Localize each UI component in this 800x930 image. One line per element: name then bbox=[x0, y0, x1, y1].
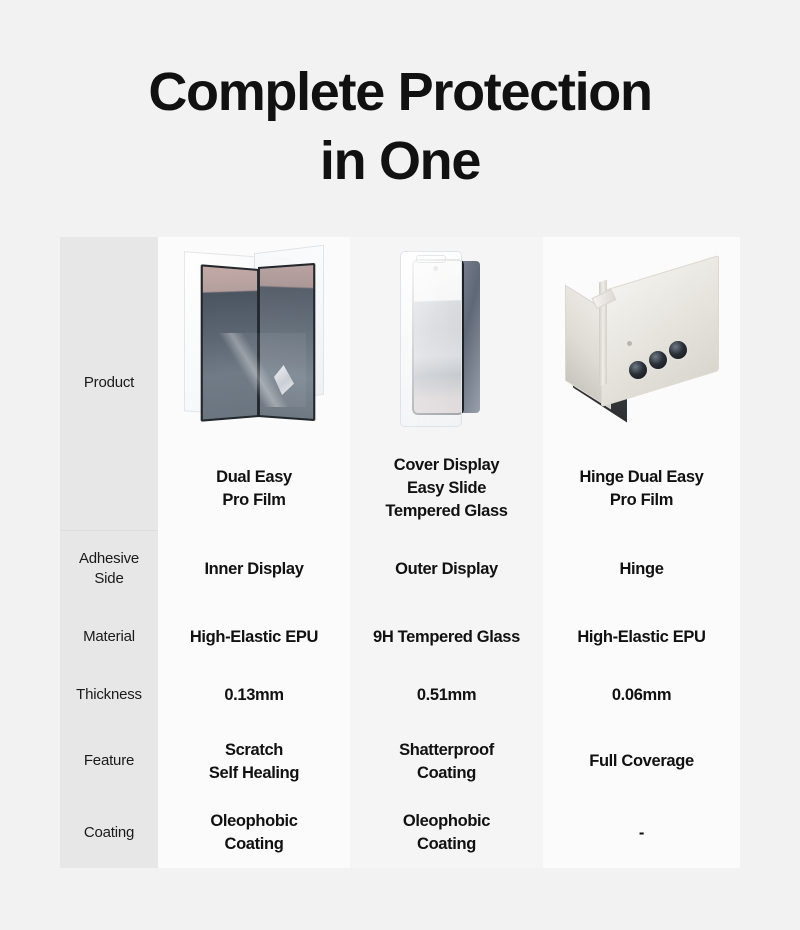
table-row-adhesive-side: Adhesive Side Inner Display Outer Displa… bbox=[60, 530, 740, 608]
table-row-coating: Coating Oleophobic Coating Oleophobic Co… bbox=[60, 798, 740, 868]
product-name-1: Dual Easy Pro Film bbox=[158, 447, 350, 530]
coating-value-2: Oleophobic Coating bbox=[350, 798, 543, 868]
adhesive-side-value-3: Hinge bbox=[543, 530, 740, 608]
product-name-3-line-2: Pro Film bbox=[543, 489, 740, 512]
coating-value-2-line-1: Oleophobic bbox=[350, 810, 543, 833]
coating-value-1-line-2: Coating bbox=[158, 833, 350, 856]
row-label-material: Material bbox=[60, 608, 158, 666]
row-label-adhesive-side-line-2: Side bbox=[60, 569, 158, 589]
coating-value-1: Oleophobic Coating bbox=[158, 798, 350, 868]
thickness-value-1: 0.13mm bbox=[158, 666, 350, 725]
row-label-coating: Coating bbox=[60, 798, 158, 868]
page-title-line-1: Complete Protection bbox=[0, 58, 800, 127]
comparison-infographic: Complete Protection in One Product bbox=[0, 0, 800, 930]
table-row-thickness: Thickness 0.13mm 0.51mm 0.06mm bbox=[60, 666, 740, 725]
feature-value-2: Shatterproof Coating bbox=[350, 725, 543, 798]
feature-value-3: Full Coverage bbox=[543, 725, 740, 798]
product-name-2-line-1: Cover Display bbox=[350, 454, 543, 477]
thickness-value-3: 0.06mm bbox=[543, 666, 740, 725]
product-name-1-line-2: Pro Film bbox=[158, 489, 350, 512]
product-name-2: Cover Display Easy Slide Tempered Glass bbox=[350, 447, 543, 530]
coating-value-3: - bbox=[543, 798, 740, 868]
material-value-1: High-Elastic EPU bbox=[158, 608, 350, 666]
coating-value-2-line-2: Coating bbox=[350, 833, 543, 856]
feature-value-1: Scratch Self Healing bbox=[158, 725, 350, 798]
table-row-product-name: Dual Easy Pro Film Cover Display Easy Sl… bbox=[60, 447, 740, 530]
product-name-3: Hinge Dual Easy Pro Film bbox=[543, 447, 740, 530]
row-label-adhesive-side: Adhesive Side bbox=[60, 530, 158, 608]
open-foldable-phone-with-inner-screen-film-icon bbox=[158, 237, 350, 447]
row-label-product: Product bbox=[60, 237, 158, 530]
product-name-1-line-1: Dual Easy bbox=[158, 466, 350, 489]
row-label-adhesive-side-line-1: Adhesive bbox=[60, 549, 158, 569]
product-name-2-line-2: Easy Slide bbox=[350, 477, 543, 500]
feature-value-2-line-1: Shatterproof bbox=[350, 739, 543, 762]
feature-value-2-line-2: Coating bbox=[350, 762, 543, 785]
material-value-3: High-Elastic EPU bbox=[543, 608, 740, 666]
table-row-product-image: Product bbox=[60, 237, 740, 447]
product-name-3-line-1: Hinge Dual Easy bbox=[543, 466, 740, 489]
material-value-2: 9H Tempered Glass bbox=[350, 608, 543, 666]
coating-value-1-line-1: Oleophobic bbox=[158, 810, 350, 833]
page-title-line-2: in One bbox=[0, 127, 800, 196]
feature-value-1-line-2: Self Healing bbox=[158, 762, 350, 785]
tent-folded-phone-showing-hinge-and-cameras-icon bbox=[543, 237, 740, 447]
product-image-cell-3 bbox=[543, 237, 740, 447]
product-comparison-table: Product bbox=[60, 237, 740, 868]
thickness-value-2: 0.51mm bbox=[350, 666, 543, 725]
row-label-feature: Feature bbox=[60, 725, 158, 798]
row-label-thickness: Thickness bbox=[60, 666, 158, 725]
adhesive-side-value-1: Inner Display bbox=[158, 530, 350, 608]
product-name-2-line-3: Tempered Glass bbox=[350, 500, 543, 523]
table-row-material: Material High-Elastic EPU 9H Tempered Gl… bbox=[60, 608, 740, 666]
product-image-cell-2 bbox=[350, 237, 543, 447]
page-title: Complete Protection in One bbox=[0, 58, 800, 196]
closed-foldable-phone-with-cover-display-glass-icon bbox=[350, 237, 543, 447]
table-row-feature: Feature Scratch Self Healing Shatterproo… bbox=[60, 725, 740, 798]
feature-value-1-line-1: Scratch bbox=[158, 739, 350, 762]
product-image-cell-1 bbox=[158, 237, 350, 447]
adhesive-side-value-2: Outer Display bbox=[350, 530, 543, 608]
